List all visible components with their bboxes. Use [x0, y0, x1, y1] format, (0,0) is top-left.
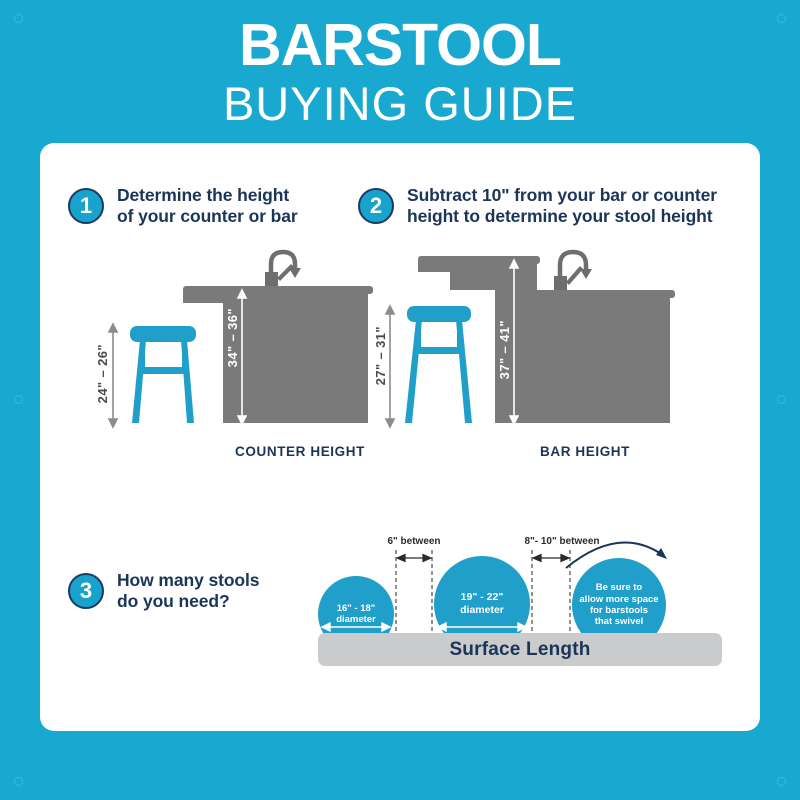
diameter-arrow-2: [438, 623, 526, 631]
stool-seat: [130, 326, 196, 342]
step-3-line-1: How many stools: [117, 570, 259, 591]
step-2-heading: 2 Subtract 10" from your bar or counter …: [358, 185, 717, 228]
step-2-line-2: height to determine your stool height: [407, 206, 717, 227]
content-card: 1 Determine the height of your counter o…: [40, 143, 760, 731]
faucet-spout-arrow: [580, 269, 592, 279]
stool-dimension-arrow: [109, 324, 117, 427]
step-3-heading: 3 How many stools do you need?: [68, 570, 259, 613]
stool-back-post-left: [416, 320, 421, 352]
step-3-line-2: do you need?: [117, 591, 259, 612]
corner-screw-bottom-left: [14, 777, 23, 786]
faucet-handle: [566, 266, 583, 285]
step-1-line-1: Determine the height: [117, 185, 298, 206]
stool-stretcher: [415, 347, 463, 354]
bar-top-ledge: [418, 256, 540, 264]
stool-back-post-right: [182, 340, 187, 370]
bar-body-shape: [418, 256, 670, 423]
bar-surface-height-label: 37" – 41": [497, 320, 512, 379]
faucet-base: [265, 272, 278, 286]
corner-screw-mid-left: [14, 395, 23, 404]
counter-body-shape: [183, 286, 368, 423]
bar-stool-height-label: 27" – 31": [373, 326, 388, 385]
step-2-number: 2: [358, 188, 394, 224]
step-3-number: 3: [68, 573, 104, 609]
counter-stool-icon: [130, 326, 196, 423]
bar-diagram-svg: [385, 248, 685, 463]
step-2-text: Subtract 10" from your bar or counter he…: [407, 185, 717, 228]
step-1-heading: 1 Determine the height of your counter o…: [68, 185, 298, 228]
counter-diagram-svg: [95, 248, 385, 463]
step-1-text: Determine the height of your counter or …: [117, 185, 298, 228]
corner-screw-mid-right: [777, 395, 786, 404]
counter-height-diagram: 24" – 26" 34" – 36" COUNTER HEIGHT: [95, 248, 385, 463]
counter-ledge: [183, 286, 373, 294]
gap-1-arrow: [397, 555, 431, 562]
step-1-number: 1: [68, 188, 104, 224]
counter-height-label: COUNTER HEIGHT: [220, 444, 380, 459]
counter-surface-height-label: 34" – 36": [225, 308, 240, 367]
stool-stretcher: [139, 367, 187, 374]
page-background: BARSTOOL BUYING GUIDE 1 Determine the he…: [0, 0, 800, 800]
header: BARSTOOL BUYING GUIDE: [0, 16, 800, 131]
gap-1-label: 6" between: [372, 536, 456, 547]
page-title: BARSTOOL: [0, 16, 800, 75]
faucet-base: [554, 276, 567, 290]
step-2-line-1: Subtract 10" from your bar or counter: [407, 185, 717, 206]
step-3-text: How many stools do you need?: [117, 570, 259, 613]
surface-length-bar: Surface Length: [318, 633, 722, 666]
faucet-handle: [277, 264, 294, 281]
page-subtitle: BUYING GUIDE: [0, 77, 800, 131]
bar-stool-icon: [405, 306, 472, 423]
gap-2-arrow: [533, 555, 569, 562]
stool-back-post-right: [457, 320, 462, 352]
counter-stool-height-label: 24" – 26": [95, 344, 110, 403]
bar-height-label: BAR HEIGHT: [515, 444, 655, 459]
stool-seat: [407, 306, 471, 322]
diameter-arrow-1: [322, 623, 390, 631]
bar-height-diagram: 27" – 31" 37" – 41" BAR HEIGHT: [385, 248, 685, 463]
step-1-line-2: of your counter or bar: [117, 206, 298, 227]
corner-screw-bottom-right: [777, 777, 786, 786]
bar-counter-ledge: [495, 290, 675, 298]
stool-back-post-left: [140, 340, 145, 370]
gap-2-label: 8"- 10" between: [500, 536, 624, 547]
swivel-arrow-head: [656, 548, 667, 559]
